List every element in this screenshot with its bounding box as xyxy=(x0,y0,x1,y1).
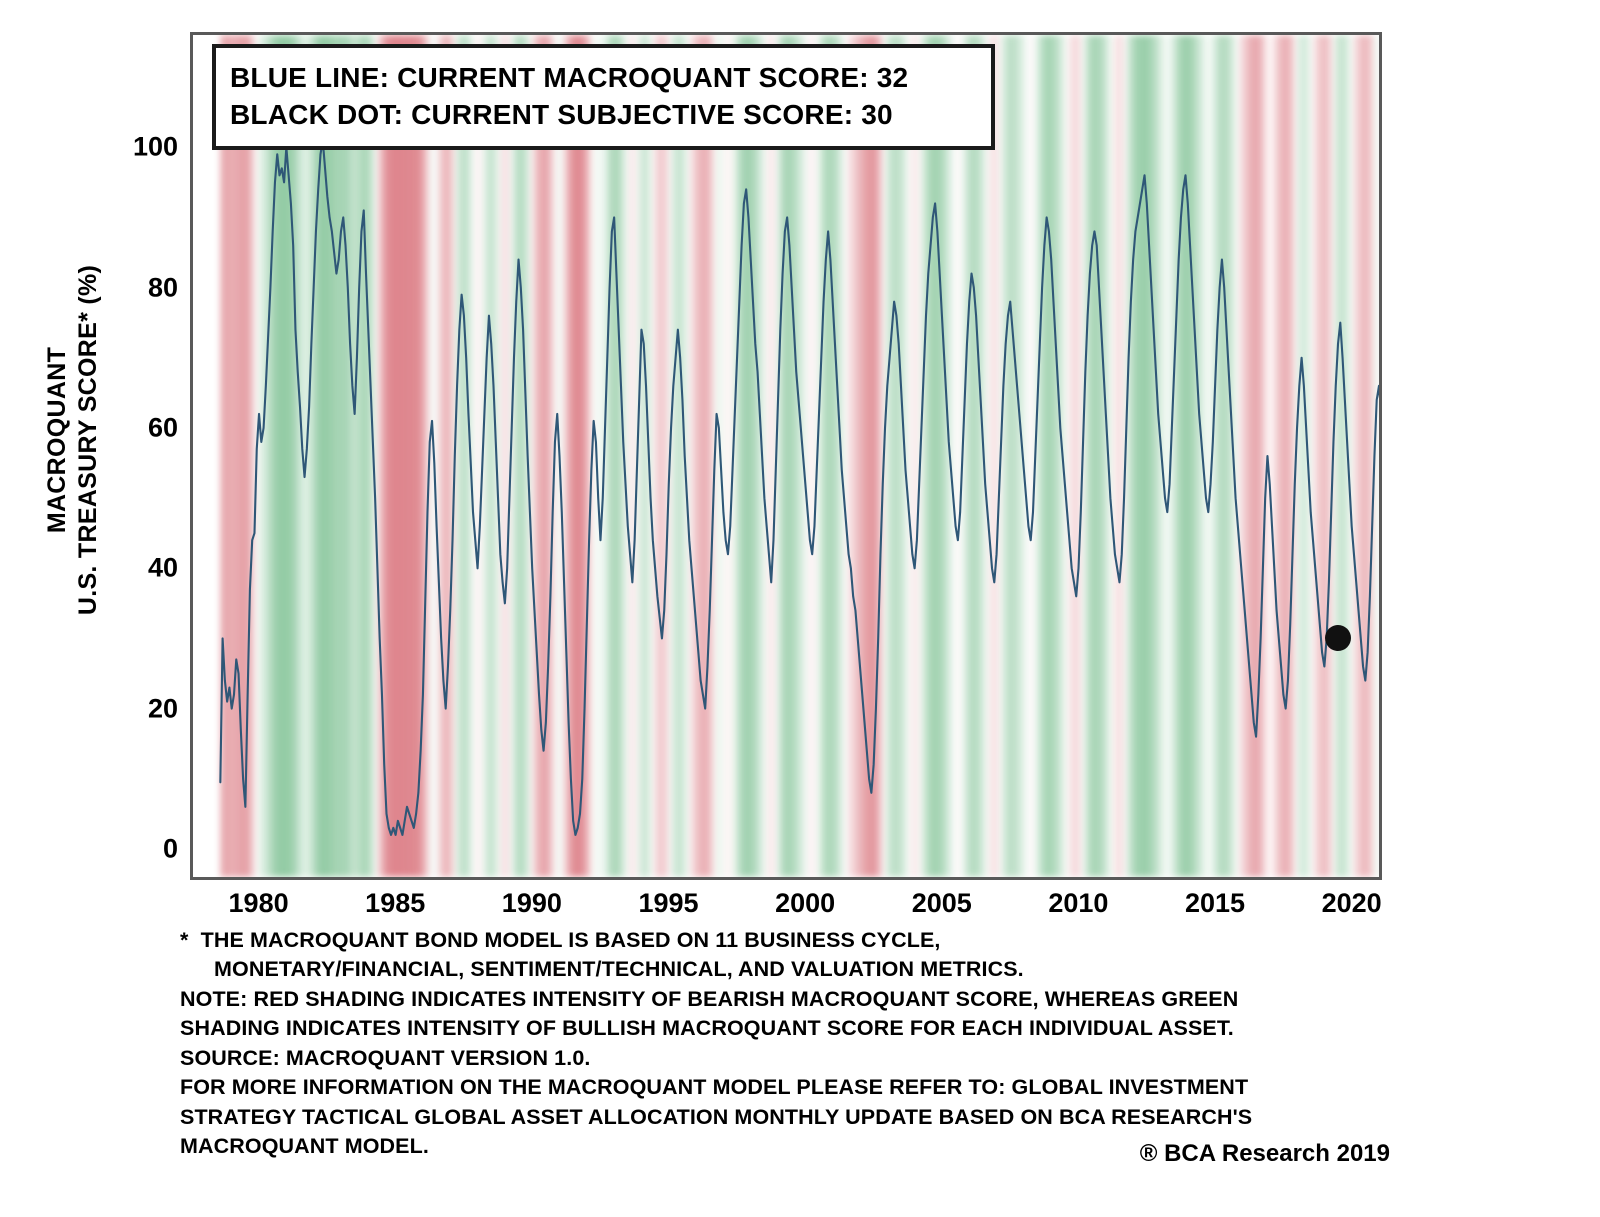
legend-line-black-dot: BLACK DOT: CURRENT SUBJECTIVE SCORE: 30 xyxy=(230,96,977,133)
x-tick-label-2010: 2010 xyxy=(1048,888,1108,919)
y-tick-label-100: 100 xyxy=(133,132,178,163)
y-tick-label-80: 80 xyxy=(148,272,178,303)
y-tick-label-0: 0 xyxy=(163,833,178,864)
footnote-line-1: * THE MACROQUANT BOND MODEL IS BASED ON … xyxy=(180,926,1490,955)
footnote-line-3: NOTE: RED SHADING INDICATES INTENSITY OF… xyxy=(180,985,1490,1014)
footnote-line-7: STRATEGY TACTICAL GLOBAL ASSET ALLOCATIO… xyxy=(180,1103,1490,1132)
x-tick-label-2020: 2020 xyxy=(1322,888,1382,919)
footnotes: * THE MACROQUANT BOND MODEL IS BASED ON … xyxy=(180,926,1490,1162)
legend-line-blue: BLUE LINE: CURRENT MACROQUANT SCORE: 32 xyxy=(230,59,977,96)
footnote-line-4: SHADING INDICATES INTENSITY OF BULLISH M… xyxy=(180,1014,1490,1043)
x-tick-label-1985: 1985 xyxy=(365,888,425,919)
chart-figure: MACROQUANT U.S. TREASURY SCORE* (%) 0204… xyxy=(0,0,1600,1217)
footnote-line-2: MONETARY/FINANCIAL, SENTIMENT/TECHNICAL,… xyxy=(180,955,1490,984)
x-tick-label-2000: 2000 xyxy=(775,888,835,919)
x-tick-label-2015: 2015 xyxy=(1185,888,1245,919)
legend-box: BLUE LINE: CURRENT MACROQUANT SCORE: 32 … xyxy=(212,44,995,150)
copyright-notice: ® BCA Research 2019 xyxy=(180,1140,1390,1168)
macroquant-score-line xyxy=(220,140,1379,835)
footnote-line-6: FOR MORE INFORMATION ON THE MACROQUANT M… xyxy=(180,1073,1490,1102)
y-axis-title-line-2: U.S. TREASURY SCORE* (%) xyxy=(73,265,104,615)
y-tick-label-40: 40 xyxy=(148,553,178,584)
y-tick-label-60: 60 xyxy=(148,412,178,443)
x-tick-label-1990: 1990 xyxy=(502,888,562,919)
x-tick-label-1995: 1995 xyxy=(638,888,698,919)
y-axis-title-line-1: MACROQUANT xyxy=(42,265,73,615)
x-tick-label-2005: 2005 xyxy=(912,888,972,919)
x-tick-label-1980: 1980 xyxy=(229,888,289,919)
series-line-layer xyxy=(193,35,1379,877)
plot-area xyxy=(190,32,1382,880)
y-tick-label-20: 20 xyxy=(148,693,178,724)
footnote-line-5: SOURCE: MACROQUANT VERSION 1.0. xyxy=(180,1044,1490,1073)
y-axis-title: MACROQUANT U.S. TREASURY SCORE* (%) xyxy=(38,205,108,675)
